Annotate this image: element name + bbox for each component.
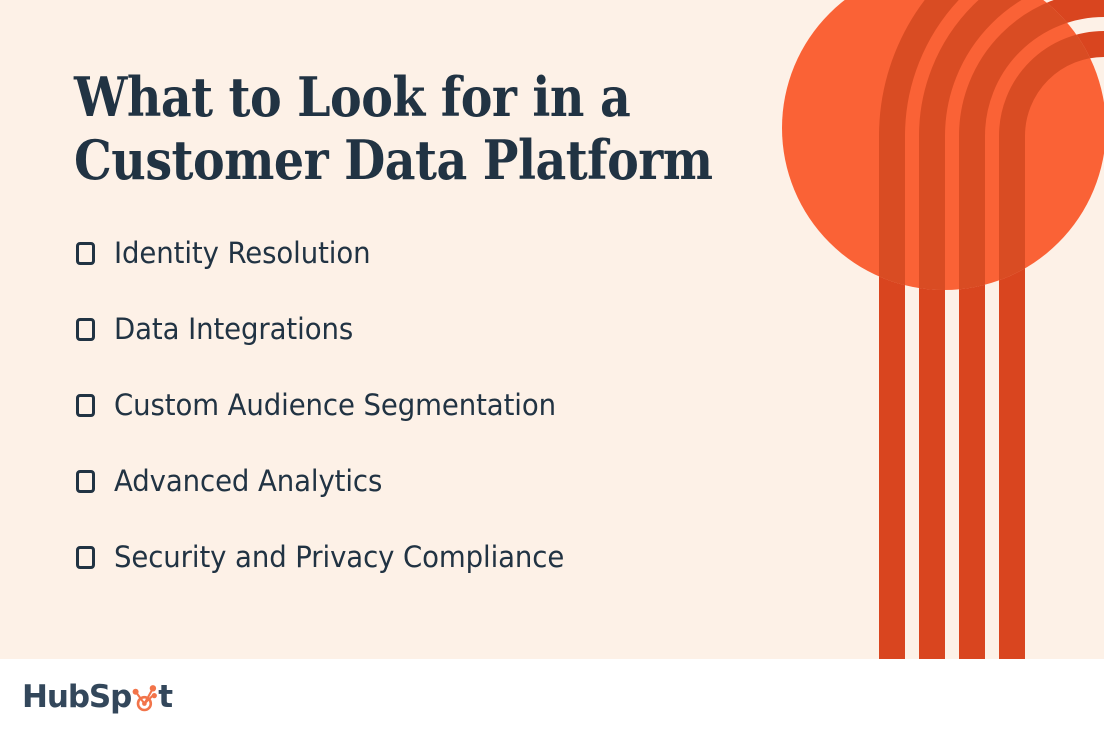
checkbox-icon[interactable] [76,318,95,341]
decorative-orange-graphic [764,0,1104,659]
checklist-item-label: Custom Audience Segmentation [114,388,556,422]
orange-circle-arches-svg [764,0,1104,659]
arch-stroke-inner-3 [972,4,1104,659]
infographic-canvas: What to Look for in a Customer Data Plat… [0,0,1104,736]
page-title: What to Look for in a Customer Data Plat… [74,66,672,191]
page-title-line-1: What to Look for in a [74,66,672,129]
arch-group-outside [892,0,1104,659]
hubspot-logo-text-before: HubSp [22,682,131,713]
arch-stroke-2 [932,0,1104,659]
checkbox-icon[interactable] [76,470,95,493]
checkbox-icon[interactable] [76,242,95,265]
list-item[interactable]: Data Integrations [76,308,776,350]
arch-stroke-inner-2 [932,0,1104,659]
checkbox-icon[interactable] [76,394,95,417]
footer-bar: HubSp [0,659,1104,736]
checkbox-icon[interactable] [76,546,95,569]
arch-stroke-1 [892,0,1104,659]
content-area: What to Look for in a Customer Data Plat… [74,0,774,659]
hubspot-sprocket-icon [131,683,158,714]
list-item[interactable]: Identity Resolution [76,232,776,274]
arch-stroke-inner-4 [1012,44,1104,659]
list-item[interactable]: Security and Privacy Compliance [76,536,776,578]
arch-stroke-inner-1 [892,0,1104,659]
list-item[interactable]: Advanced Analytics [76,460,776,502]
arch-group-inside [892,0,1104,659]
orange-circle [782,0,1104,290]
checklist-item-label: Advanced Analytics [114,464,382,498]
checklist-item-label: Security and Privacy Compliance [114,540,564,574]
hubspot-logo[interactable]: HubSp [22,677,172,717]
page-title-line-2: Customer Data Platform [74,129,672,192]
hubspot-logo-text-after: t [158,682,172,713]
checklist-item-label: Data Integrations [114,312,353,346]
checklist: Identity Resolution Data Integrations Cu… [76,232,776,578]
card-background: What to Look for in a Customer Data Plat… [0,0,1104,659]
arch-stroke-3 [972,4,1104,659]
checklist-item-label: Identity Resolution [114,236,371,270]
list-item[interactable]: Custom Audience Segmentation [76,384,776,426]
arch-stroke-4 [1012,44,1104,659]
